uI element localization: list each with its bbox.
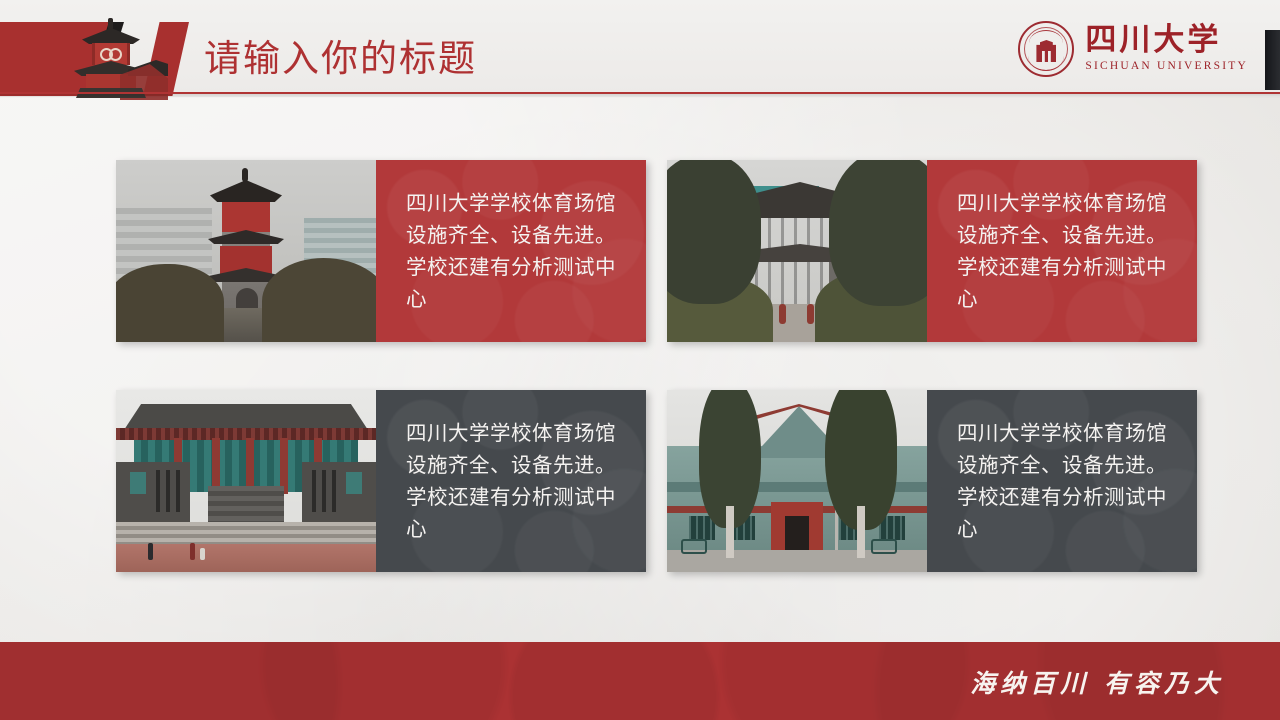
- pagoda-clock-tower-photo: [116, 160, 376, 342]
- slide-footer: 海纳百川 有容乃大: [0, 642, 1280, 720]
- footer-motto: 海纳百川 有容乃大: [970, 664, 1224, 700]
- card-3-text-panel: 四川大学学校体育场馆设施齐全、设备先进。学校还建有分析测试中心: [376, 390, 646, 572]
- right-edge-tab: [1265, 30, 1280, 90]
- slide: 请输入你的标题 四川大学 SICHUAN UNIVERSITY: [0, 0, 1280, 720]
- card-2-text: 四川大学学校体育场馆设施齐全、设备先进。学校还建有分析测试中心: [957, 187, 1179, 315]
- slide-header: 请输入你的标题 四川大学 SICHUAN UNIVERSITY: [0, 0, 1280, 97]
- card-1-text-panel: 四川大学学校体育场馆设施齐全、设备先进。学校还建有分析测试中心: [376, 160, 646, 342]
- card-2-text-panel: 四川大学学校体育场馆设施齐全、设备先进。学校还建有分析测试中心: [927, 160, 1197, 342]
- card-4-text-panel: 四川大学学校体育场馆设施齐全、设备先进。学校还建有分析测试中心: [927, 390, 1197, 572]
- header-divider-shadow: [0, 94, 1280, 98]
- sichuan-university-seal-icon: [1018, 21, 1074, 77]
- card-4-text: 四川大学学校体育场馆设施齐全、设备先进。学校还建有分析测试中心: [957, 417, 1179, 545]
- content-card-2[interactable]: 四川大学学校体育场馆设施齐全、设备先进。学校还建有分析测试中心: [667, 160, 1197, 342]
- pagoda-icon: [58, 14, 164, 96]
- content-card-4[interactable]: 四川大学学校体育场馆设施齐全、设备先进。学校还建有分析测试中心: [667, 390, 1197, 572]
- card-1-text: 四川大学学校体育场馆设施齐全、设备先进。学校还建有分析测试中心: [406, 187, 628, 315]
- logo-name-en: SICHUAN UNIVERSITY: [1085, 59, 1248, 74]
- old-teal-building-photo: [667, 390, 927, 572]
- logo-name-cn: 四川大学: [1085, 24, 1248, 57]
- traditional-hall-photo: [667, 160, 927, 342]
- page-title: 请输入你的标题: [204, 38, 477, 80]
- university-logo: 四川大学 SICHUAN UNIVERSITY: [1018, 18, 1248, 80]
- content-card-1[interactable]: 四川大学学校体育场馆设施齐全、设备先进。学校还建有分析测试中心: [116, 160, 646, 342]
- card-3-text: 四川大学学校体育场馆设施齐全、设备先进。学校还建有分析测试中心: [406, 417, 628, 545]
- modern-library-steps-photo: [116, 390, 376, 572]
- content-card-3[interactable]: 四川大学学校体育场馆设施齐全、设备先进。学校还建有分析测试中心: [116, 390, 646, 572]
